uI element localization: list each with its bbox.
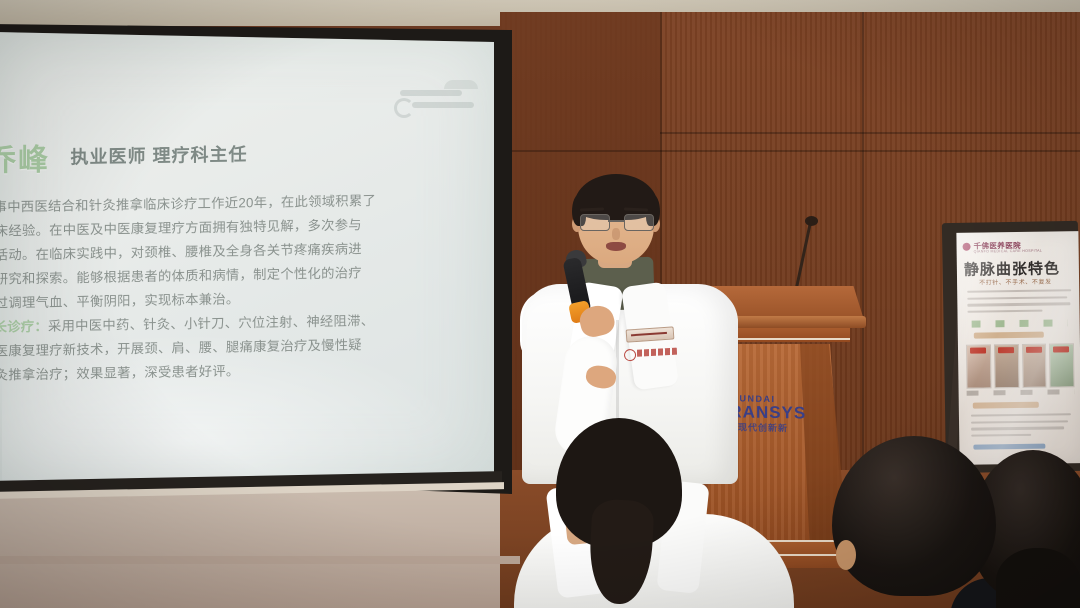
slide-body-text: 从事中西医结合和针灸推拿临床诊疗工作近20年，在此领域积累了 富的临床经验。在中… bbox=[0, 188, 424, 388]
wall-seam-horizontal-2 bbox=[660, 132, 1080, 134]
speaker-mouth bbox=[606, 242, 626, 251]
wall-seam-horizontal bbox=[500, 150, 1080, 152]
poster-photo-row bbox=[966, 343, 1075, 389]
poster-checklist-row bbox=[972, 319, 1068, 327]
audience-ear bbox=[836, 540, 856, 570]
poster-photo bbox=[1049, 343, 1074, 387]
poster-photo-tag bbox=[970, 347, 986, 353]
poster-photo-captions bbox=[967, 389, 1075, 396]
audience-head-first bbox=[832, 436, 996, 596]
slide-speaker-role: 执业医师 理疗科主任 bbox=[70, 140, 247, 169]
speaker-nose bbox=[612, 228, 620, 240]
poster-section-label-2 bbox=[973, 402, 1039, 409]
poster-photo-tag bbox=[998, 347, 1014, 353]
baseboard bbox=[0, 556, 520, 564]
photo-scene: 秦乔峰 执业医师 理疗科主任 从事中西医结合和针灸推拿临床诊疗工作近20年，在此… bbox=[0, 0, 1080, 608]
audience-member-far-right bbox=[996, 538, 1080, 608]
slide-para-3: 术交流活动。在临床实践中，对颈椎、腰椎及全身各关节疼痛疾病进 bbox=[0, 241, 362, 263]
poster-logo-subtext: QIANFO MEDICAL CARE HOSPITAL bbox=[974, 249, 1043, 254]
slide-para-8: 病的针灸推拿治疗；效果显著，深受患者好评。 bbox=[0, 363, 240, 383]
slide-para-4: 了深入研究和探索。能够根据患者的体质和病情，制定个性化的治疗 bbox=[0, 265, 362, 287]
slide-para-1: 从事中西医结合和针灸推拿临床诊疗工作近20年，在此领域积累了 bbox=[0, 193, 376, 215]
poster-paragraph-block bbox=[967, 289, 1071, 317]
poster-photo-tag bbox=[1025, 347, 1041, 353]
poster-photo bbox=[1021, 344, 1046, 388]
audience-member-front-left bbox=[514, 418, 794, 608]
gooseneck-microphone-head-icon bbox=[805, 216, 818, 226]
poster-subtitle: 不打针、不手术、不复发 bbox=[979, 277, 1052, 287]
slide-para-2: 富的临床经验。在中医及中医康复理疗方面拥有独特见解，多次参与 bbox=[0, 217, 362, 239]
slide-para-6: 采用中医中药、针灸、小针刀、穴位注射、神经阻滞、 bbox=[48, 313, 374, 334]
poster-section-label-1 bbox=[974, 332, 1044, 339]
slide-para-5: 案，通过调理气血、平衡阴阳，实现标本兼治。 bbox=[0, 291, 240, 311]
slide-content: 秦乔峰 执业医师 理疗科主任 从事中西医结合和针灸推拿临床诊疗工作近20年，在此… bbox=[0, 128, 454, 389]
slide-speaker-name: 秦乔峰 bbox=[0, 135, 50, 181]
poster-photo bbox=[966, 344, 991, 388]
slide-watermark-logo bbox=[384, 78, 494, 120]
slide-highlight-label: 擅长诊疗： bbox=[0, 319, 48, 335]
audience-head-far bbox=[996, 548, 1080, 608]
poster-photo bbox=[994, 344, 1019, 388]
poster-logo-icon bbox=[963, 243, 971, 251]
poster-photo-tag bbox=[1053, 346, 1069, 352]
wall-seam-vertical-2 bbox=[862, 12, 864, 482]
hospital-logo-icon bbox=[624, 349, 637, 362]
slide-para-7: 拿等中医康复理疗新技术，开展颈、肩、腰、腿痛康复治疗及慢性疑 bbox=[0, 337, 362, 359]
